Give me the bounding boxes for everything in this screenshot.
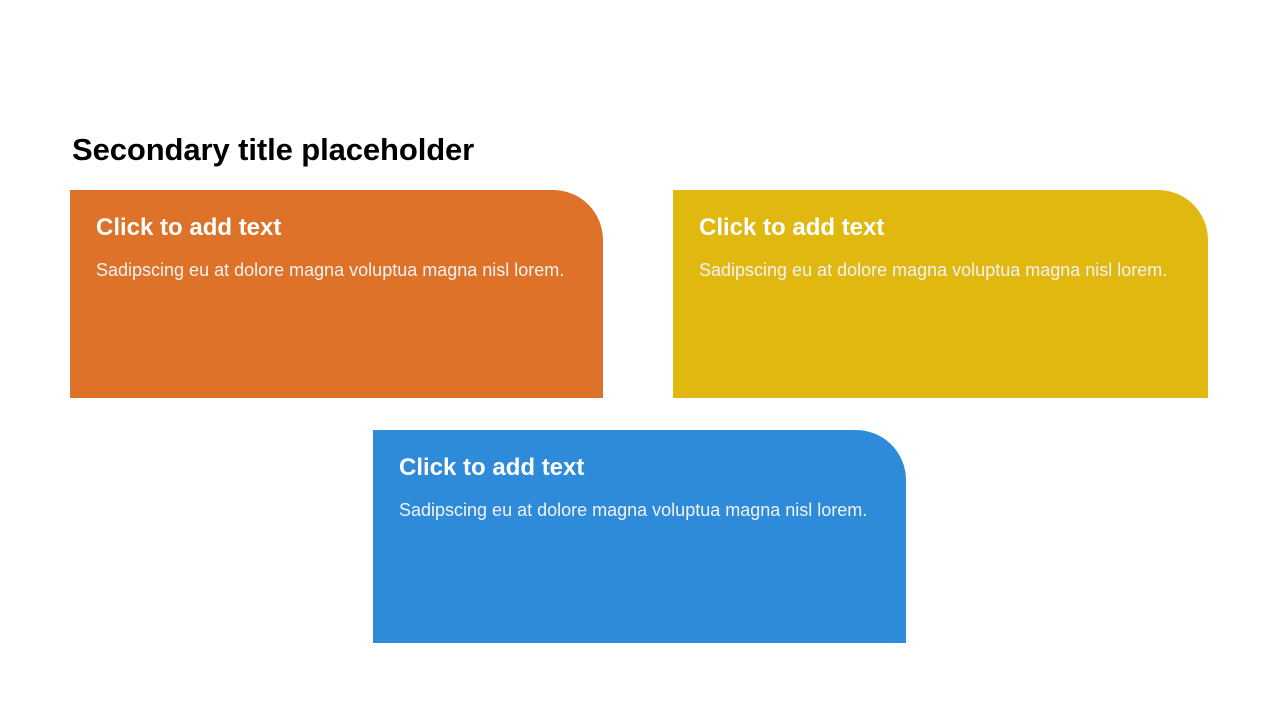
- card-heading[interactable]: Click to add text: [399, 452, 880, 484]
- slide-canvas: Secondary title placeholder Click to add…: [0, 0, 1280, 720]
- card-body-text[interactable]: Sadipscing eu at dolore magna voluptua m…: [399, 498, 880, 522]
- content-card-yellow[interactable]: Click to add text Sadipscing eu at dolor…: [673, 190, 1208, 398]
- card-heading[interactable]: Click to add text: [699, 212, 1182, 244]
- card-body-text[interactable]: Sadipscing eu at dolore magna voluptua m…: [96, 258, 577, 282]
- card-body-text[interactable]: Sadipscing eu at dolore magna voluptua m…: [699, 258, 1182, 282]
- card-heading[interactable]: Click to add text: [96, 212, 577, 244]
- page-title[interactable]: Secondary title placeholder: [72, 128, 1072, 172]
- content-card-blue[interactable]: Click to add text Sadipscing eu at dolor…: [373, 430, 906, 643]
- content-card-orange[interactable]: Click to add text Sadipscing eu at dolor…: [70, 190, 603, 398]
